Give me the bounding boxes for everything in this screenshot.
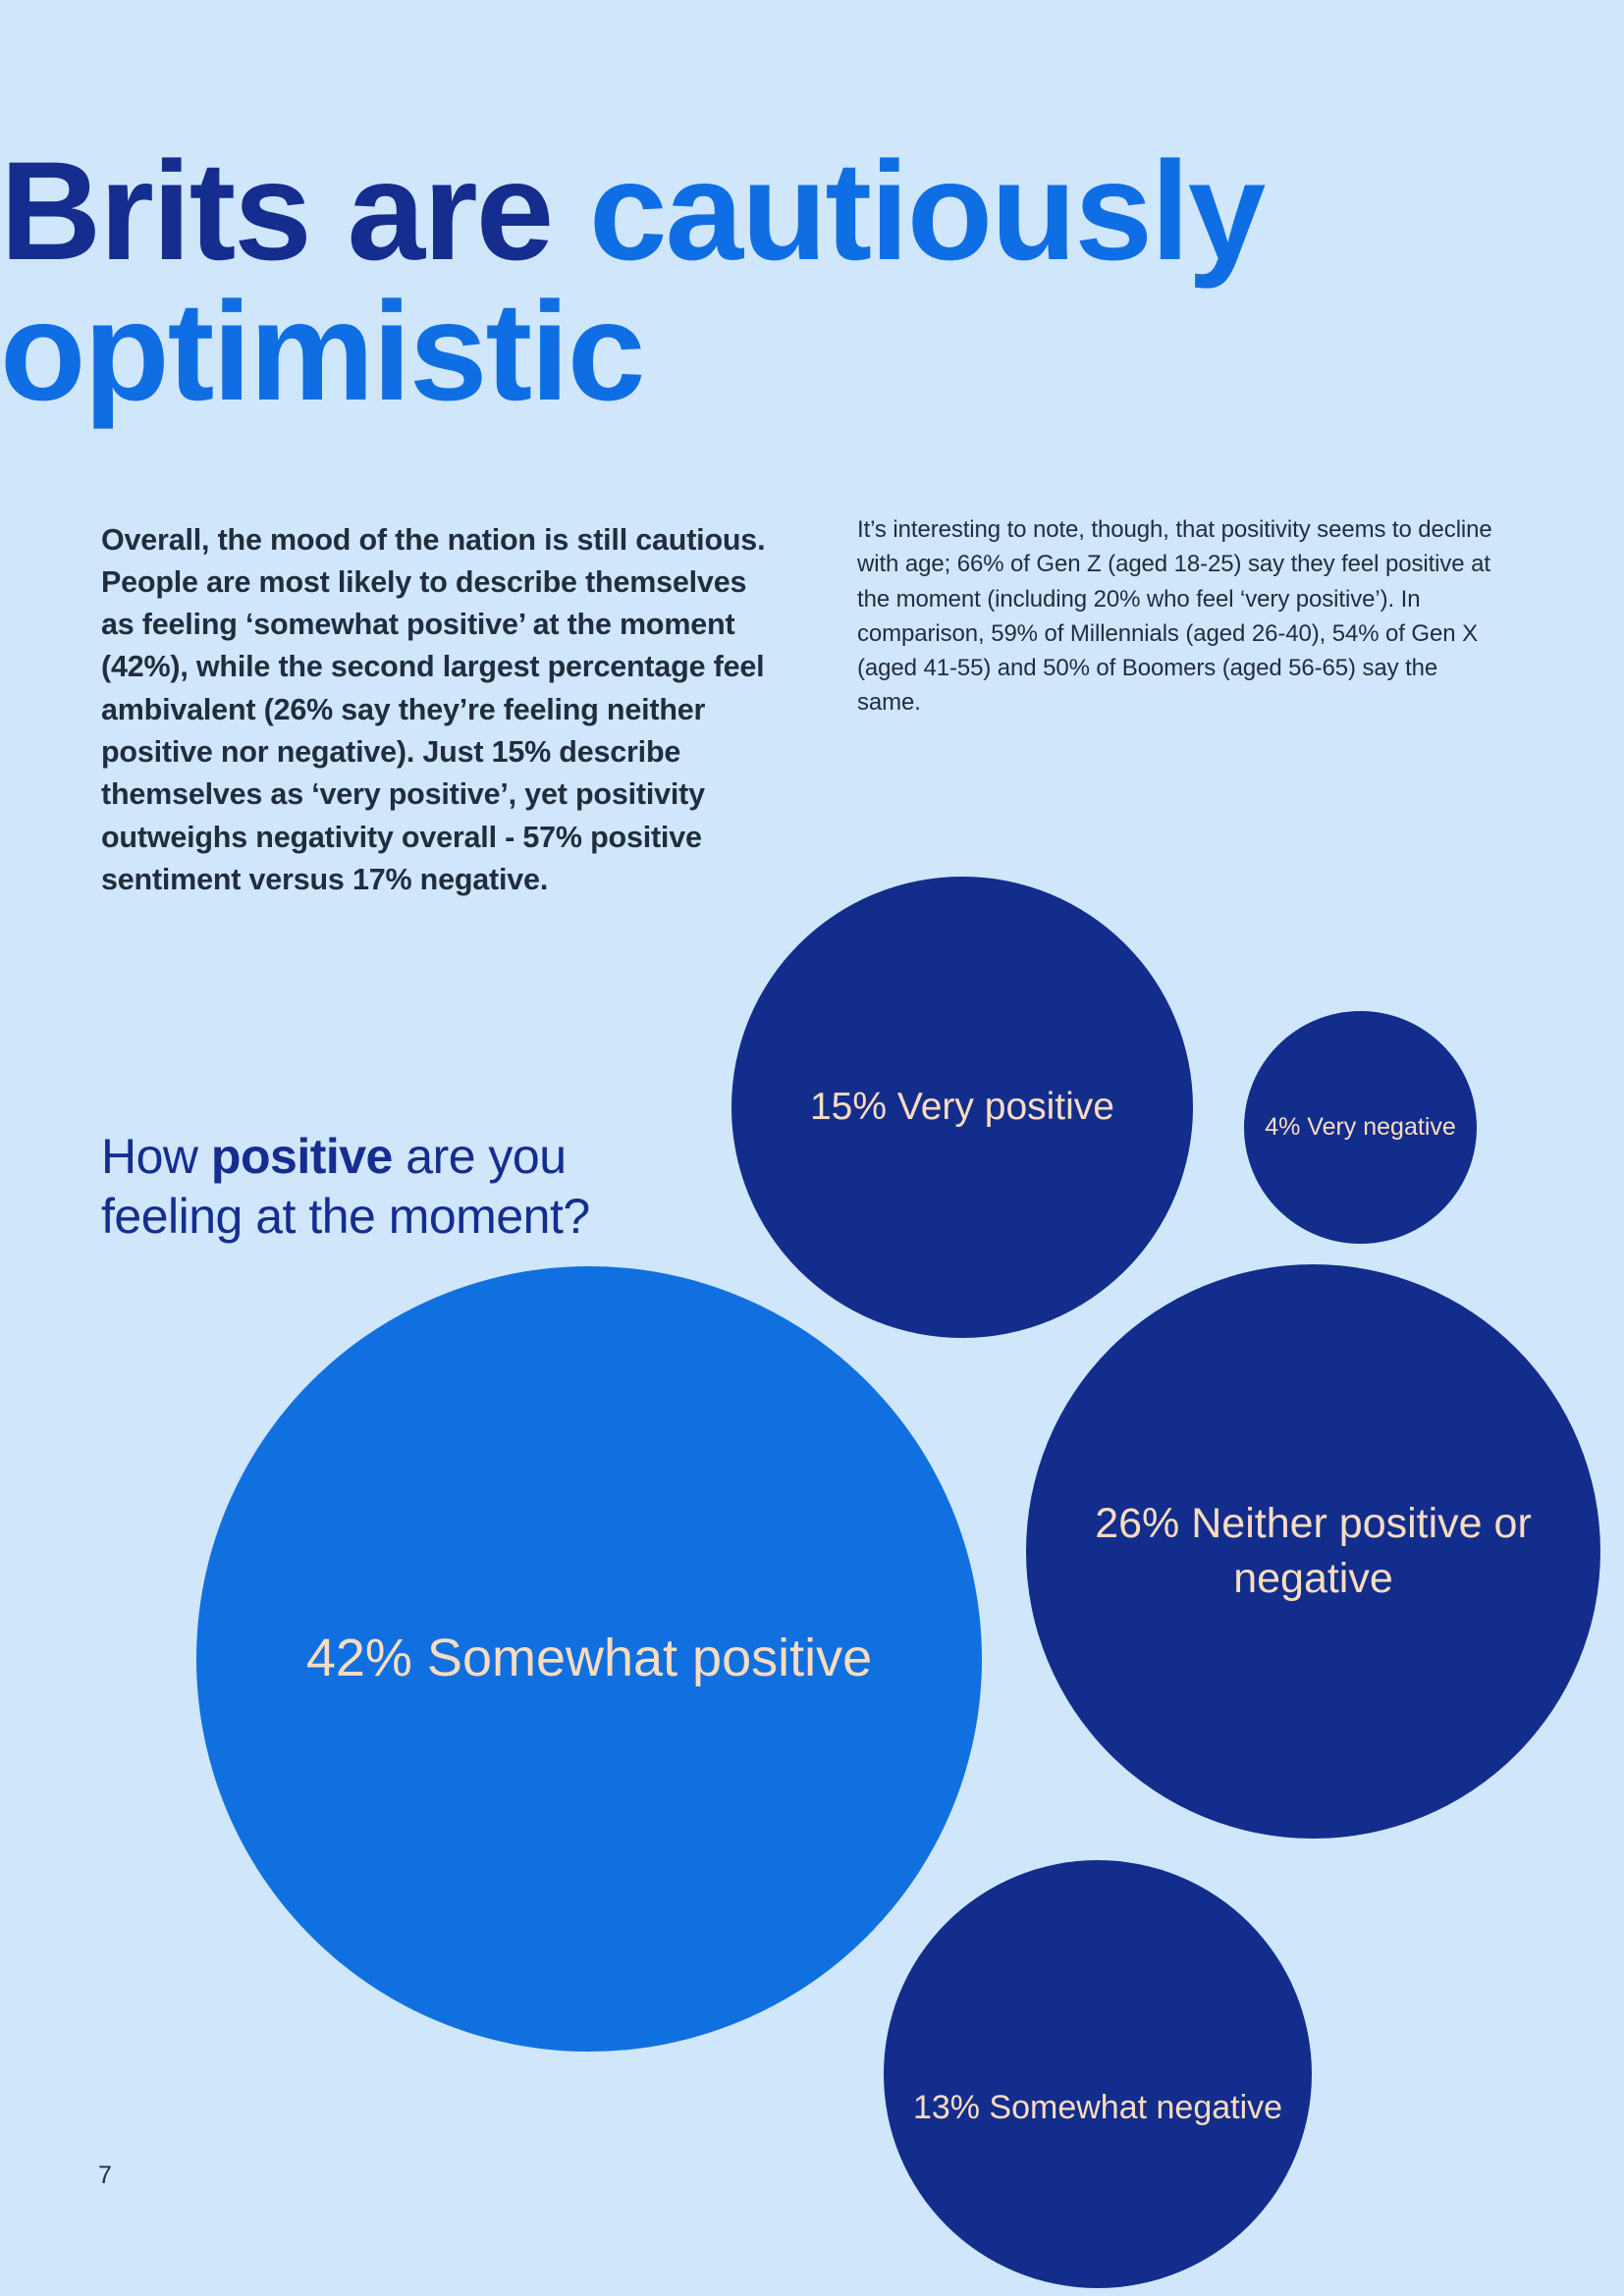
page-title: Brits are cautiouslyoptimistic: [0, 141, 1473, 422]
bubble-label-neither: 26% Neither positive or negative: [1026, 1497, 1600, 1607]
infographic-page: Brits are cautiouslyoptimistic Overall, …: [0, 0, 1624, 2296]
bubble-label-somewhat-positive: 42% Somewhat positive: [196, 1625, 982, 1692]
bubble-label-somewhat-negative: 13% Somewhat negative: [884, 2086, 1312, 2129]
body-paragraph-right: It’s interesting to note, though, that p…: [857, 512, 1505, 721]
bubble-very-positive[interactable]: 15% Very positive: [731, 877, 1193, 1338]
page-number: 7: [98, 2162, 112, 2190]
bubble-somewhat-positive[interactable]: 42% Somewhat positive: [196, 1266, 982, 2052]
question-part-1: How: [101, 1129, 211, 1184]
chart-question-heading: How positive are you feeling at the mome…: [101, 1127, 651, 1247]
bubble-somewhat-negative[interactable]: 13% Somewhat negative: [884, 1860, 1312, 2288]
bubble-neither-positive-or-negative[interactable]: 26% Neither positive or negative: [1026, 1264, 1600, 1839]
title-accent-optimistic: optimistic: [0, 274, 643, 430]
body-paragraph-left: Overall, the mood of the nation is still…: [101, 519, 769, 902]
bubble-label-very-positive: 15% Very positive: [731, 1083, 1193, 1132]
title-accent-cautiously: cautiously: [589, 133, 1264, 290]
bubble-very-negative[interactable]: 4% Very negative: [1244, 1011, 1477, 1244]
title-plain: Brits are: [0, 133, 589, 290]
bubble-label-very-negative: 4% Very negative: [1244, 1111, 1477, 1144]
question-emphasis: positive: [211, 1129, 393, 1184]
